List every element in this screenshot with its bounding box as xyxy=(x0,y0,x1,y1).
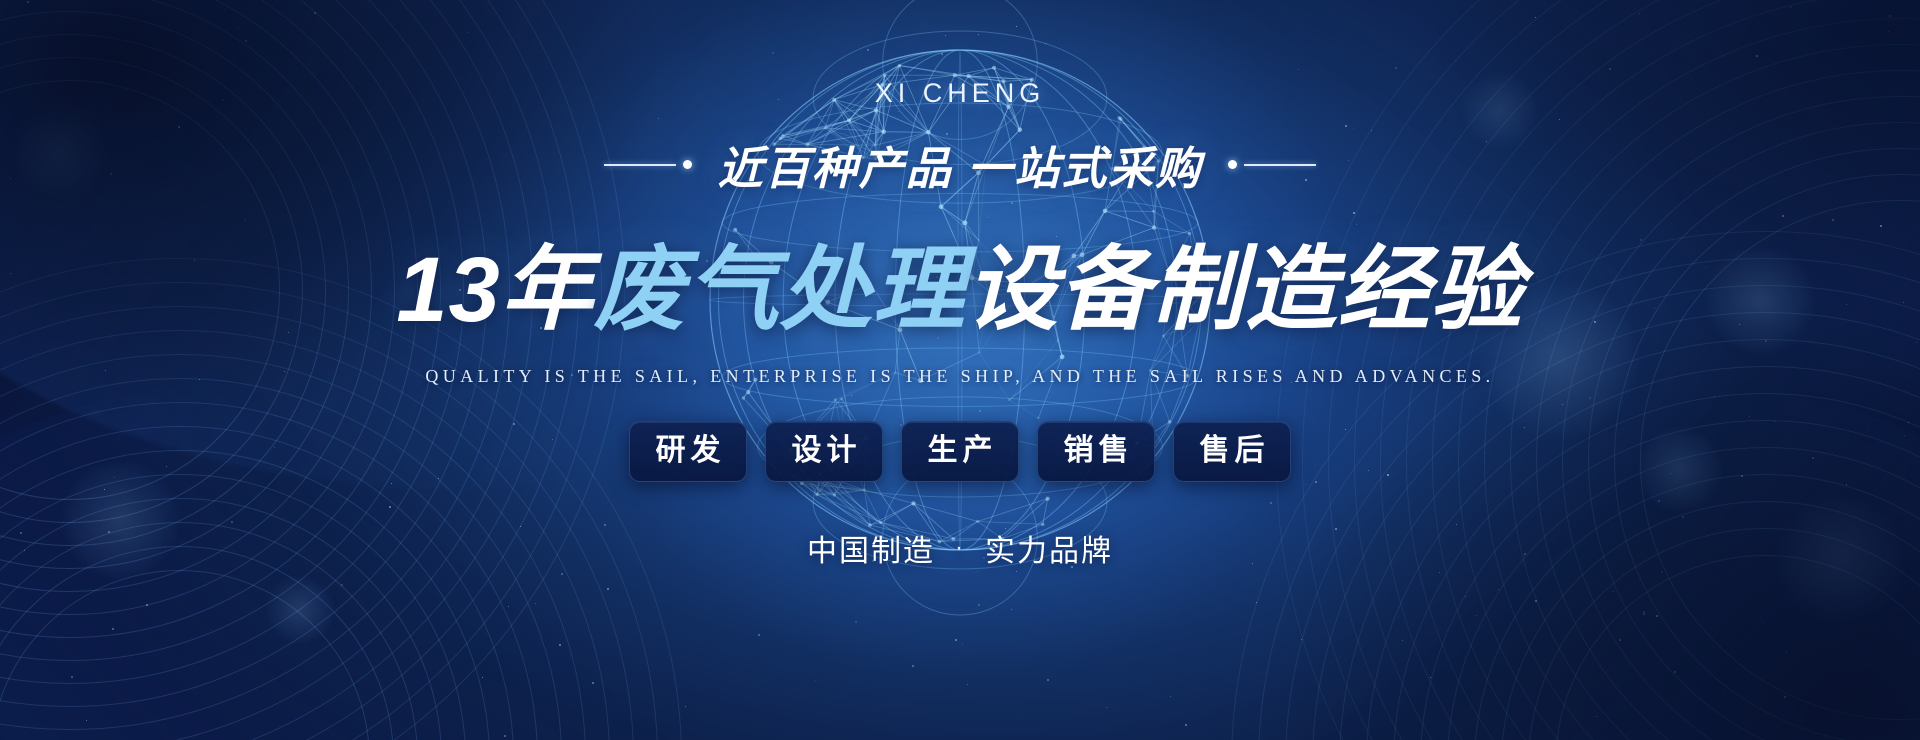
english-tagline: QUALITY IS THE SAIL, ENTERPRISE IS THE S… xyxy=(425,366,1494,387)
service-tag[interactable]: 销售 xyxy=(1037,421,1155,482)
service-tag-list: 研发 设计 生产 销售 售后 xyxy=(629,421,1291,482)
footer-slogan: 中国制造 · 实力品牌 xyxy=(807,526,1113,570)
brand-name: XI CHENG xyxy=(875,78,1046,109)
footer-separator: · xyxy=(955,534,965,562)
headline-prefix: 13年 xyxy=(396,239,593,341)
headline-accent: 废气处理 xyxy=(594,239,966,341)
footer-left-text: 中国制造 xyxy=(807,526,935,570)
headline: 13年废气处理设备制造经验 xyxy=(396,215,1523,348)
left-rule-decoration xyxy=(604,160,692,169)
right-rule-decoration xyxy=(1228,160,1316,169)
subtitle-row: 近百种产品 一站式采购 xyxy=(604,132,1317,197)
service-tag[interactable]: 生产 xyxy=(901,421,1019,482)
service-tag[interactable]: 设计 xyxy=(765,421,883,482)
headline-suffix: 设备制造经验 xyxy=(966,239,1524,341)
hero-banner: XI CHENG 近百种产品 一站式采购 13年废气处理设备制造经验 QUALI… xyxy=(0,0,1920,740)
footer-right-text: 实力品牌 xyxy=(985,526,1113,570)
banner-content: XI CHENG 近百种产品 一站式采购 13年废气处理设备制造经验 QUALI… xyxy=(0,0,1920,740)
service-tag[interactable]: 售后 xyxy=(1173,421,1291,482)
subtitle-text: 近百种产品 一站式采购 xyxy=(718,132,1203,197)
service-tag[interactable]: 研发 xyxy=(629,421,747,482)
